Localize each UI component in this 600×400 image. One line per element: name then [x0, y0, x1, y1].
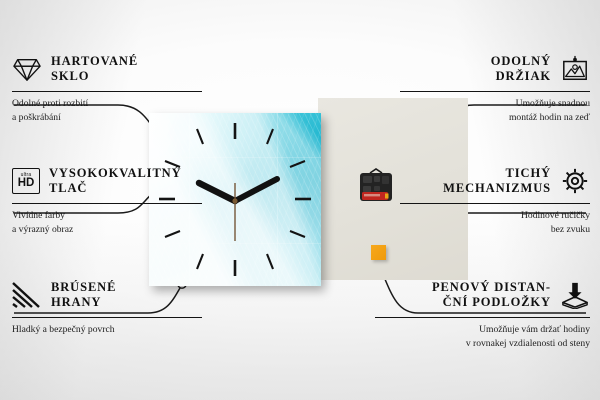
- beveled-edges-icon: [12, 281, 42, 309]
- feature-title: BRÚSENÉ: [51, 280, 116, 295]
- divider: [400, 91, 590, 92]
- feature-desc-line1: Vivídne farby: [12, 209, 202, 223]
- feature-beveled-edges: BRÚSENÉ HRANY Hladký a bezpečný povrch: [12, 278, 202, 337]
- divider: [12, 317, 202, 318]
- feature-high-quality-print: ultra HD VYSOKOKVALITNÝ TLAČ Vivídne far…: [12, 164, 202, 237]
- foam-pad-icon: [560, 281, 590, 309]
- clock-center-cap: [232, 198, 237, 203]
- feature-desc-line1: Umožňuje snadnou: [400, 97, 590, 111]
- divider: [12, 203, 202, 204]
- divider: [12, 91, 202, 92]
- feature-desc-line1: Odolné proti rozbití: [12, 97, 202, 111]
- diamond-icon: [12, 55, 42, 83]
- feature-desc-line2: v rovnakej vzdialenosti od steny: [375, 337, 590, 351]
- feature-desc-line2: a poškrábání: [12, 111, 202, 125]
- feature-desc-line1: Hladký a bezpečný povrch: [12, 323, 202, 337]
- feature-title: VYSOKOKVALITNÝ: [49, 166, 182, 181]
- feature-title-2: MECHANIZMUS: [443, 181, 551, 196]
- feature-desc-line2: bez zvuku: [400, 223, 590, 237]
- feature-title-2: TLAČ: [49, 181, 182, 196]
- feature-desc-line1: Hodinové ručičky: [400, 209, 590, 223]
- feature-foam-spacers: PENOVÝ DISTAN- ČNÍ PODLOŽKY Umožňuje vám…: [375, 278, 590, 351]
- divider: [375, 317, 590, 318]
- feature-tempered-glass: HARTOVANÉ SKLO Odolné proti rozbití a po…: [12, 52, 202, 125]
- feature-title: ODOLNÝ: [491, 54, 551, 69]
- feature-title-2: HRANY: [51, 295, 116, 310]
- feature-desc-line2: a výrazný obraz: [12, 223, 202, 237]
- feature-title-2: ČNÍ PODLOŽKY: [432, 295, 551, 310]
- gear-icon: [560, 167, 590, 195]
- clock-mechanism: [356, 167, 396, 207]
- infographic-canvas: HARTOVANÉ SKLO Odolné proti rozbití a po…: [0, 0, 600, 400]
- hour-hand: [199, 183, 235, 201]
- feature-title: TICHÝ: [443, 166, 551, 181]
- feature-title: HARTOVANÉ: [51, 54, 138, 69]
- feature-silent-mechanism: TICHÝ MECHANIZMUS Hodinové ručičky bez z…: [400, 164, 590, 237]
- feature-desc-line2: montáž hodin na zeď: [400, 111, 590, 125]
- feature-title-2: DRŽIAK: [491, 69, 551, 84]
- feature-desc-line1: Umožňuje vám držať hodiny: [375, 323, 590, 337]
- divider: [400, 203, 590, 204]
- feature-title-2: SKLO: [51, 69, 138, 84]
- feature-title: PENOVÝ DISTAN-: [432, 280, 551, 295]
- wall-hanger-icon: [560, 55, 590, 83]
- feature-durable-hanger: ODOLNÝ DRŽIAK Umožňuje snadnou montáž ho…: [400, 52, 590, 125]
- ultra-hd-large-text: HD: [18, 178, 35, 190]
- ultra-hd-icon: ultra HD: [12, 168, 40, 194]
- foam-spacer-pad: [371, 245, 386, 260]
- minute-hand: [235, 179, 277, 201]
